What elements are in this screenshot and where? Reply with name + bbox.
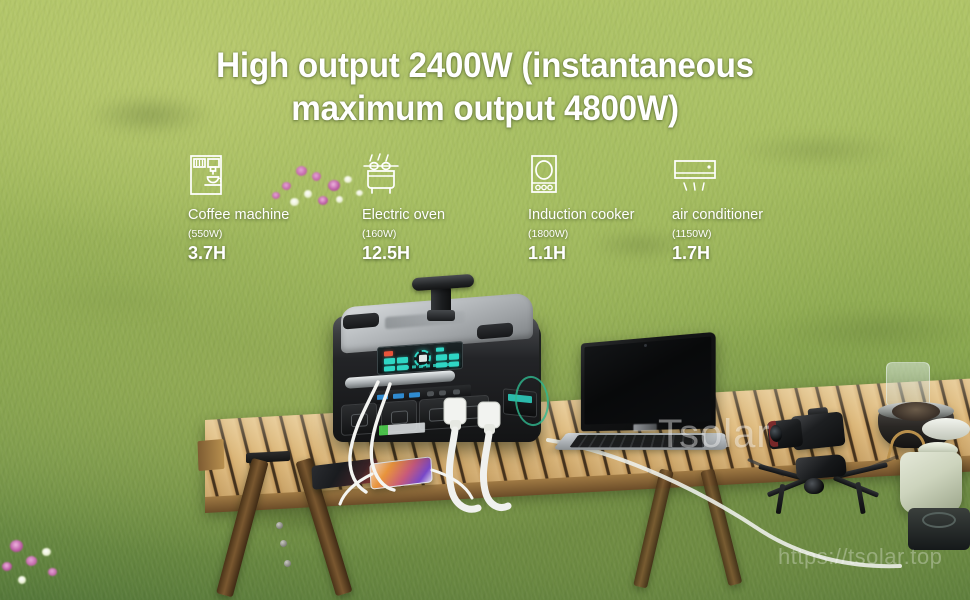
laptop-webcam-icon	[644, 344, 647, 347]
leg-bolt	[276, 522, 283, 529]
appliance-label: Electric oven	[362, 208, 445, 223]
dslr-camera	[768, 412, 846, 454]
appliance-runtime: 12.5H	[362, 244, 445, 262]
appliance-runtime: 1.1H	[528, 244, 634, 262]
station-handle-collar	[427, 310, 455, 321]
bowl-contents	[892, 402, 940, 421]
appliance-runtime: 1.7H	[672, 244, 763, 262]
appliance-wattage: (1150W)	[672, 229, 763, 240]
appliance-item-induction-cooker: Induction cooker (1800W) 1.1H	[528, 152, 634, 262]
appliance-label: Coffee machine	[188, 208, 289, 223]
air-conditioner-icon	[672, 152, 728, 200]
appliance-wattage: (1800W)	[528, 229, 634, 240]
drone-gimbal-camera	[804, 478, 824, 494]
usb-c-port[interactable]	[427, 391, 434, 396]
table-left-cap	[197, 439, 224, 471]
ac-outlet[interactable]	[453, 395, 489, 429]
page-title: High output 2400W (instantaneous maximum…	[24, 44, 946, 131]
plate	[922, 418, 970, 440]
appliance-item-electric-oven: Electric oven (160W) 12.5H	[362, 152, 445, 262]
station-gauge-center	[419, 355, 427, 363]
appliance-runtime-row: Coffee machine (550W) 3.7H Electric oven…	[0, 152, 970, 262]
appliance-item-air-conditioner: air conditioner (1150W) 1.7H	[672, 152, 763, 262]
appliance-item-coffee-machine: Coffee machine (550W) 3.7H	[188, 152, 289, 262]
coffee-machine-icon	[188, 152, 244, 200]
appliance-wattage: (160W)	[362, 229, 445, 240]
appliance-wattage: (550W)	[188, 229, 289, 240]
drone-body	[795, 454, 847, 480]
url-watermark: https://tsolar.top	[778, 544, 942, 570]
usb-c-port[interactable]	[439, 390, 446, 395]
kettle	[900, 452, 962, 514]
usb-port[interactable]	[393, 393, 404, 399]
usb-port[interactable]	[409, 392, 420, 398]
induction-cooker-icon	[528, 152, 584, 200]
ac-outlet[interactable]	[341, 403, 377, 437]
laptop-brand-logo	[633, 424, 656, 432]
appliance-label: air conditioner	[672, 208, 763, 223]
leg-bolt	[284, 560, 291, 567]
portable-power-station	[327, 288, 545, 448]
product-hero-image: High output 2400W (instantaneous maximum…	[0, 0, 970, 600]
electric-oven-icon	[362, 152, 418, 200]
usb-port[interactable]	[377, 394, 388, 400]
appliance-label: Induction cooker	[528, 208, 634, 223]
brand-watermark: Tsolar	[658, 412, 771, 457]
stove-burner-ring	[922, 512, 956, 528]
leg-bolt	[280, 540, 287, 547]
appliance-runtime: 3.7H	[188, 244, 289, 262]
usb-c-port[interactable]	[453, 389, 460, 394]
quadcopter-drone	[752, 450, 892, 528]
